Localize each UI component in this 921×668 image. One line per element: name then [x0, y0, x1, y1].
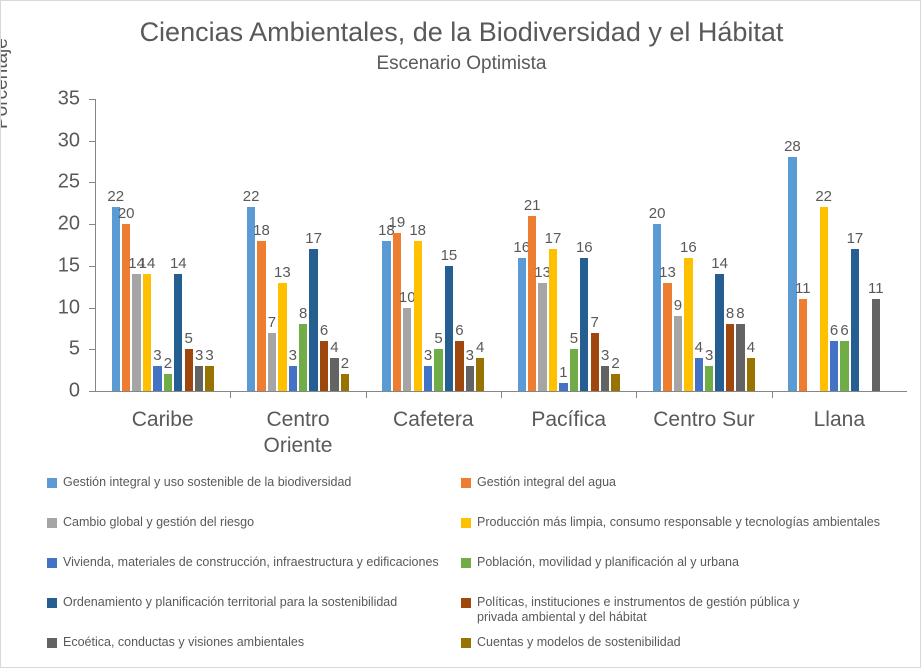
bar[interactable] [122, 224, 130, 391]
legend-item[interactable]: Gestión integral y uso sostenible de la … [47, 475, 351, 490]
bar[interactable] [112, 207, 120, 391]
y-axis-tick-label: 25 [58, 171, 80, 194]
bar[interactable] [705, 366, 713, 391]
bar-slot: 4 [695, 99, 703, 391]
bar-slot: 22 [247, 99, 255, 391]
y-axis-tick-label: 35 [58, 88, 80, 111]
bar-value-label: 2 [164, 356, 172, 372]
bar[interactable] [434, 349, 442, 391]
x-axis-separator [501, 391, 502, 398]
bar-value-label: 2 [611, 356, 619, 372]
bar-slot: 3 [205, 99, 213, 391]
bar[interactable] [611, 374, 619, 391]
bar-group: 162113171516732 [501, 99, 636, 391]
bar-slot: 18 [382, 99, 390, 391]
bar[interactable] [382, 241, 390, 391]
bar-slot: 16 [580, 99, 588, 391]
chart-subtitle: Escenario Optimista [1, 51, 921, 77]
y-axis-tick-label: 10 [58, 296, 80, 319]
bar-slot: 4 [476, 99, 484, 391]
legend-color-swatch [47, 598, 57, 608]
bar[interactable] [559, 383, 567, 391]
x-axis-category-label: Cafetera [366, 407, 501, 433]
chart-legend: Gestión integral y uso sostenible de la … [47, 475, 907, 657]
bar-group: 222014143214533 [95, 99, 230, 391]
legend-item-label: Políticas, instituciones e instrumentos … [477, 595, 799, 625]
legend-item-label: Gestión integral y uso sostenible de la … [63, 475, 351, 490]
legend-item[interactable]: Ordenamiento y planificación territorial… [47, 595, 397, 610]
bar-slot: 8 [736, 99, 744, 391]
bar-value-label: 3 [601, 348, 609, 364]
bar[interactable] [674, 316, 682, 391]
bar-slot: 3 [195, 99, 203, 391]
legend-item[interactable]: Población, movilidad y planificación al … [461, 555, 739, 570]
bar[interactable] [278, 283, 286, 391]
bar-slot: 13 [278, 99, 286, 391]
bar-value-label: 5 [434, 331, 442, 347]
legend-color-swatch [461, 558, 471, 568]
bar[interactable] [663, 283, 671, 391]
legend-item-label: Cuentas y modelos de sostenibilidad [477, 635, 681, 650]
x-axis-category-label: Pacífica [501, 407, 636, 433]
bar-value-label: 3 [424, 348, 432, 364]
bar-value-label: 4 [476, 340, 484, 356]
bar[interactable] [528, 216, 536, 391]
bar-slot: 20 [653, 99, 661, 391]
bar[interactable] [174, 274, 182, 391]
bar-value-label: 5 [185, 331, 193, 347]
bar-slot: 18 [257, 99, 265, 391]
bar-slot: 15 [445, 99, 453, 391]
bar-slot: 11 [799, 99, 807, 391]
x-axis-separator [366, 391, 367, 398]
legend-color-swatch [461, 638, 471, 648]
bar-slot: 5 [185, 99, 193, 391]
y-axis-tick-label: 20 [58, 213, 80, 236]
bar-slot: 2 [341, 99, 349, 391]
legend-color-swatch [461, 598, 471, 608]
bar[interactable] [788, 157, 796, 391]
bar[interactable] [580, 258, 588, 391]
bar[interactable] [309, 249, 317, 391]
y-axis-tick: 0 [89, 391, 95, 392]
bar-slot: 22 [112, 99, 120, 391]
bar-value-label: 6 [455, 323, 463, 339]
bar-slot: 17 [309, 99, 317, 391]
bar-slot [861, 99, 869, 391]
bar-value-label: 8 [299, 306, 307, 322]
bar[interactable] [830, 341, 838, 391]
x-axis-category-label: Caribe [95, 407, 230, 433]
bar[interactable] [445, 266, 453, 391]
bar-slot: 2 [611, 99, 619, 391]
bar[interactable] [653, 224, 661, 391]
bar-slot: 4 [330, 99, 338, 391]
bar[interactable] [257, 241, 265, 391]
bar-slot: 18 [414, 99, 422, 391]
bar[interactable] [601, 366, 609, 391]
bar-slot: 1 [559, 99, 567, 391]
bar-slot [809, 99, 817, 391]
x-axis-separator [636, 391, 637, 398]
bar-slot: 20 [122, 99, 130, 391]
legend-item[interactable]: Vivienda, materiales de construcción, in… [47, 555, 439, 570]
bar-value-label: 7 [591, 315, 599, 331]
bar[interactable] [851, 249, 859, 391]
bar[interactable] [164, 374, 172, 391]
legend-item-label: Ordenamiento y planificación territorial… [63, 595, 397, 610]
legend-color-swatch [47, 478, 57, 488]
bar[interactable] [299, 324, 307, 391]
bar-value-label: 4 [330, 340, 338, 356]
bar[interactable] [341, 374, 349, 391]
bar[interactable] [330, 358, 338, 391]
y-axis-tick-label: 15 [58, 254, 80, 277]
bar-slot: 22 [820, 99, 828, 391]
bar-slot: 14 [174, 99, 182, 391]
legend-item[interactable]: Políticas, instituciones e instrumentos … [461, 595, 799, 625]
bar-slot: 6 [320, 99, 328, 391]
bar-value-label: 3 [153, 348, 161, 364]
y-axis-title: Porcentaje [0, 38, 13, 129]
bar-group: 20139164314884 [636, 99, 771, 391]
bar[interactable] [289, 366, 297, 391]
bar[interactable] [549, 249, 557, 391]
x-axis-category-label: Llana [772, 407, 907, 433]
bar-value-label: 3 [466, 348, 474, 364]
bar-value-label: 6 [840, 323, 848, 339]
legend-item[interactable]: Cuentas y modelos de sostenibilidad [461, 635, 681, 650]
bar-slot: 14 [143, 99, 151, 391]
bar-value-label: 3 [195, 348, 203, 364]
legend-item-label: Gestión integral del agua [477, 475, 616, 490]
bar[interactable] [195, 366, 203, 391]
bar[interactable] [205, 366, 213, 391]
bar-slot: 17 [549, 99, 557, 391]
bar-value-label: 3 [705, 348, 713, 364]
bar-value-label: 8 [726, 306, 734, 322]
bar-slot: 3 [424, 99, 432, 391]
bar[interactable] [185, 349, 193, 391]
bar[interactable] [538, 283, 546, 391]
bar-slot: 14 [715, 99, 723, 391]
bar-slot: 6 [830, 99, 838, 391]
bar-value-label: 6 [830, 323, 838, 339]
legend-item-label: Población, movilidad y planificación al … [477, 555, 739, 570]
legend-item[interactable]: Gestión integral del agua [461, 475, 616, 490]
bar-slot [882, 99, 890, 391]
bar-slot: 8 [726, 99, 734, 391]
bar[interactable] [518, 258, 526, 391]
bar-value-label: 4 [695, 340, 703, 356]
bar[interactable] [799, 299, 807, 391]
bar-value-label: 1 [559, 365, 567, 381]
bar-value-label: 2 [341, 356, 349, 372]
bar[interactable] [715, 274, 723, 391]
bar-slot: 3 [153, 99, 161, 391]
bar-slot: 7 [591, 99, 599, 391]
bar-slot: 17 [851, 99, 859, 391]
y-axis-tick-label: 0 [69, 380, 80, 403]
bar-slot: 16 [684, 99, 692, 391]
bar[interactable] [320, 341, 328, 391]
bar[interactable] [820, 207, 828, 391]
bar-group: 281122661711 [772, 99, 907, 391]
legend-color-swatch [47, 638, 57, 648]
bar-slot: 3 [466, 99, 474, 391]
bar-value-label: 5 [570, 331, 578, 347]
bar-value-label: 4 [747, 340, 755, 356]
bar[interactable] [840, 341, 848, 391]
bar-value-label: 6 [320, 323, 328, 339]
chart-container: Ciencias Ambientales, de la Biodiversida… [0, 0, 921, 668]
bar[interactable] [424, 366, 432, 391]
plot-area: 05101520253035 2220141432145332218713381… [95, 99, 907, 391]
bar-slot: 28 [788, 99, 796, 391]
bar-slot: 2 [164, 99, 172, 391]
legend-color-swatch [461, 478, 471, 488]
bar[interactable] [403, 308, 411, 391]
bar-value-label: 9 [674, 298, 682, 314]
bar-slot: 5 [434, 99, 442, 391]
bar[interactable] [143, 274, 151, 391]
bar-slot: 11 [872, 99, 880, 391]
bar[interactable] [591, 333, 599, 391]
legend-item-label: Cambio global y gestión del riesgo [63, 515, 254, 530]
legend-item-label: Producción más limpia, consumo responsab… [477, 515, 880, 530]
x-axis-category-label: Centro Sur [636, 407, 771, 433]
bar-slot: 4 [747, 99, 755, 391]
bar-slot: 21 [528, 99, 536, 391]
y-axis-tick-label: 5 [69, 338, 80, 361]
bar[interactable] [414, 241, 422, 391]
bar[interactable] [132, 274, 140, 391]
bar-slot: 19 [393, 99, 401, 391]
bar-value-label: 8 [736, 306, 744, 322]
bar[interactable] [476, 358, 484, 391]
bar-slot: 7 [268, 99, 276, 391]
legend-item-label: Vivienda, materiales de construcción, in… [63, 555, 439, 570]
bar[interactable] [455, 341, 463, 391]
bar-slot: 14 [132, 99, 140, 391]
bar-value-label: 7 [268, 315, 276, 331]
chart-title-block: Ciencias Ambientales, de la Biodiversida… [1, 15, 921, 77]
legend-color-swatch [47, 518, 57, 528]
legend-item[interactable]: Cambio global y gestión del riesgo [47, 515, 254, 530]
x-axis-separator [772, 391, 773, 398]
y-axis-tick-label: 30 [58, 129, 80, 152]
bar-group: 181910183515634 [366, 99, 501, 391]
chart-title: Ciencias Ambientales, de la Biodiversida… [1, 15, 921, 49]
bar-value-label: 3 [289, 348, 297, 364]
legend-color-swatch [47, 558, 57, 568]
bar-slot: 10 [403, 99, 411, 391]
bar-slot: 3 [705, 99, 713, 391]
bar-group: 22187133817642 [230, 99, 365, 391]
bar-slot: 16 [518, 99, 526, 391]
bar[interactable] [268, 333, 276, 391]
bar[interactable] [466, 366, 474, 391]
bar-slot: 3 [601, 99, 609, 391]
legend-item[interactable]: Ecoética, conductas y visiones ambiental… [47, 635, 304, 650]
bar-value-label: 3 [205, 348, 213, 364]
bar[interactable] [872, 299, 880, 391]
bar[interactable] [747, 358, 755, 391]
bar[interactable] [684, 258, 692, 391]
bar-slot: 13 [663, 99, 671, 391]
bar-slot: 6 [455, 99, 463, 391]
bar[interactable] [153, 366, 161, 391]
legend-item-label: Ecoética, conductas y visiones ambiental… [63, 635, 304, 650]
bar[interactable] [736, 324, 744, 391]
legend-color-swatch [461, 518, 471, 528]
bar-slot: 3 [289, 99, 297, 391]
x-axis-separator [230, 391, 231, 398]
bar[interactable] [695, 358, 703, 391]
bar[interactable] [393, 233, 401, 392]
bar[interactable] [726, 324, 734, 391]
bar[interactable] [570, 349, 578, 391]
x-axis-category-label: Centro Oriente [230, 407, 365, 459]
legend-item[interactable]: Producción más limpia, consumo responsab… [461, 515, 880, 530]
